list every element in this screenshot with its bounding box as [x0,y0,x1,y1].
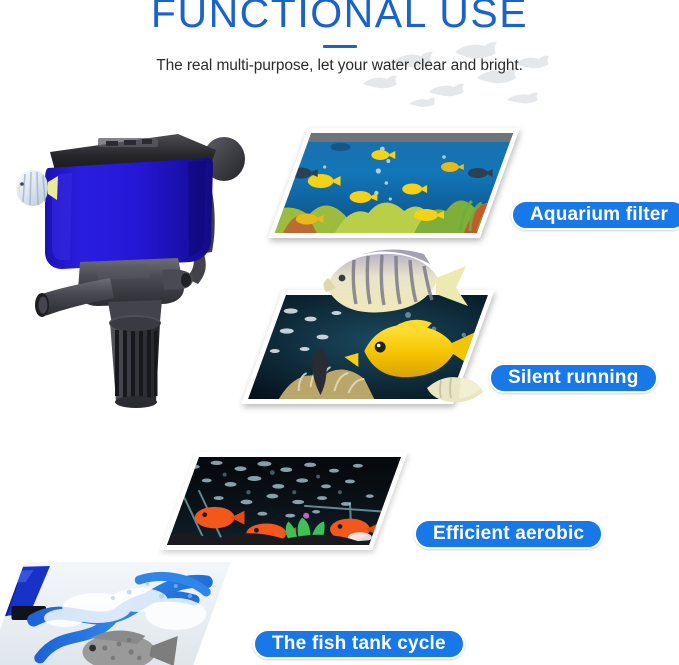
title-divider [323,45,357,48]
page-title: FUNCTIONAL USE [0,0,679,37]
feature-badge-fish-tank-cycle[interactable]: The fish tank cycle [253,629,465,659]
feature-badge-efficient-aerobic[interactable]: Efficient aerobic [414,519,603,549]
angelfish-icon [8,162,60,214]
feature-photo-fish-tank-cycle [0,562,231,665]
photo-frame [0,562,231,665]
feature-photo-efficient-aerobic [160,452,408,550]
feature-badge-silent-running[interactable]: Silent running [489,363,658,393]
photo-frame [275,133,513,233]
reef-aquarium-art [275,133,513,233]
page-subtitle: The real multi-purpose, let your water c… [0,57,679,75]
header-banner: FUNCTIONAL USE The real multi-purpose, l… [0,0,679,110]
feature-badge-aquarium-filter[interactable]: Aquarium filter [511,200,679,230]
product-image-pump [2,112,260,412]
aerated-tank-art [167,457,401,545]
water-cycle-art [0,562,231,665]
striped-butterflyfish-icon [318,248,470,322]
pale-fish-tail-icon [425,372,485,406]
photo-frame [167,457,401,545]
feature-photo-aquarium-filter [268,128,520,238]
